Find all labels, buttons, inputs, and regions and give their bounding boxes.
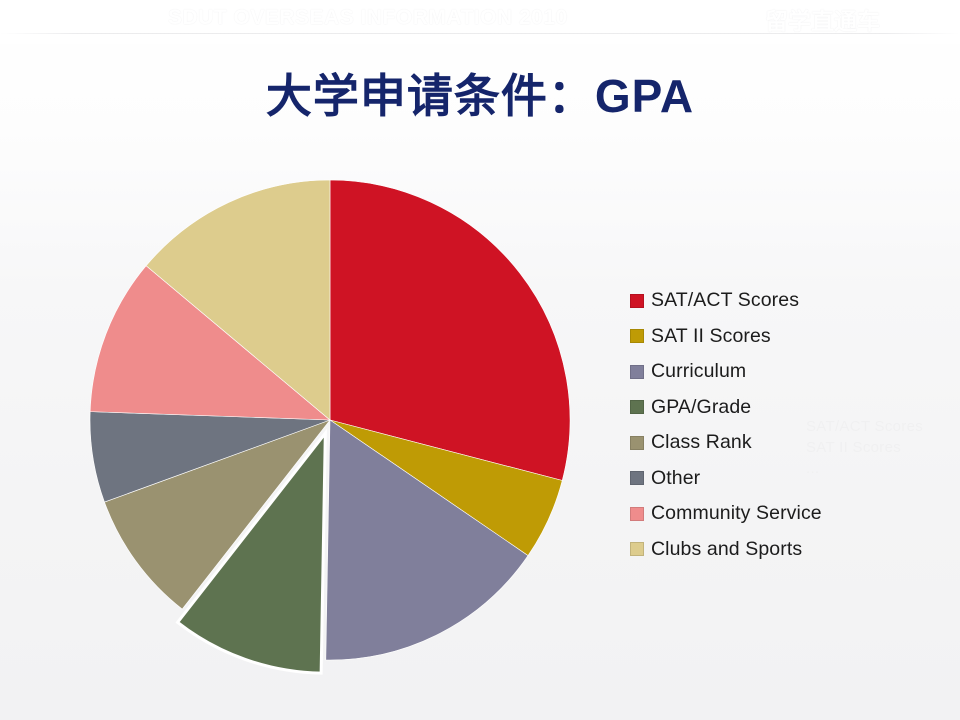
page-title-latin: GPA	[595, 70, 694, 122]
legend-label: SAT II Scores	[651, 325, 771, 348]
header-divider	[0, 33, 960, 34]
legend-swatch-class-rank	[630, 436, 644, 450]
legend-label: Curriculum	[651, 360, 746, 383]
pie-chart-svg	[70, 170, 590, 690]
legend-item[interactable]: Other	[630, 461, 930, 497]
header-banner-text: SDUT OVERSEAS INFORMATION 2010	[168, 6, 568, 30]
legend-label: SAT/ACT Scores	[651, 289, 799, 312]
legend-label: Clubs and Sports	[651, 538, 802, 561]
chart-legend: SAT/ACT Scores SAT II Scores Curriculum …	[630, 283, 930, 567]
slide-header-band: SDUT OVERSEAS INFORMATION 2010 留学直通车	[0, 0, 960, 44]
page-title: 大学申请条件：GPA	[0, 60, 960, 126]
legend-item[interactable]: Clubs and Sports	[630, 532, 930, 568]
chart-container: SAT/ACT Scores SAT II Scores Curriculum …	[0, 150, 960, 720]
legend-item[interactable]: SAT II Scores	[630, 319, 930, 355]
header-banner-text-cn: 留学直通车	[765, 2, 880, 36]
legend-swatch-curriculum	[630, 365, 644, 379]
legend-swatch-other	[630, 471, 644, 485]
legend-swatch-sat-act-scores	[630, 294, 644, 308]
legend-swatch-community-service	[630, 507, 644, 521]
legend-item[interactable]: SAT/ACT Scores	[630, 283, 930, 319]
legend-swatch-clubs-and-sports	[630, 542, 644, 556]
legend-swatch-sat-ii-scores	[630, 329, 644, 343]
legend-label: GPA/Grade	[651, 396, 751, 419]
presentation-slide: SDUT OVERSEAS INFORMATION 2010 留学直通车 大学申…	[0, 0, 960, 720]
page-title-cjk: 大学申请条件：	[266, 69, 595, 123]
legend-label: Class Rank	[651, 431, 752, 454]
legend-item[interactable]: GPA/Grade	[630, 390, 930, 426]
pie-slice-group	[90, 180, 570, 673]
pie-chart	[70, 170, 590, 690]
legend-item[interactable]: Class Rank	[630, 425, 930, 461]
legend-item[interactable]: Community Service	[630, 496, 930, 532]
legend-label: Other	[651, 467, 700, 490]
legend-swatch-gpa-grade	[630, 400, 644, 414]
legend-item[interactable]: Curriculum	[630, 354, 930, 390]
legend-label: Community Service	[651, 502, 822, 525]
